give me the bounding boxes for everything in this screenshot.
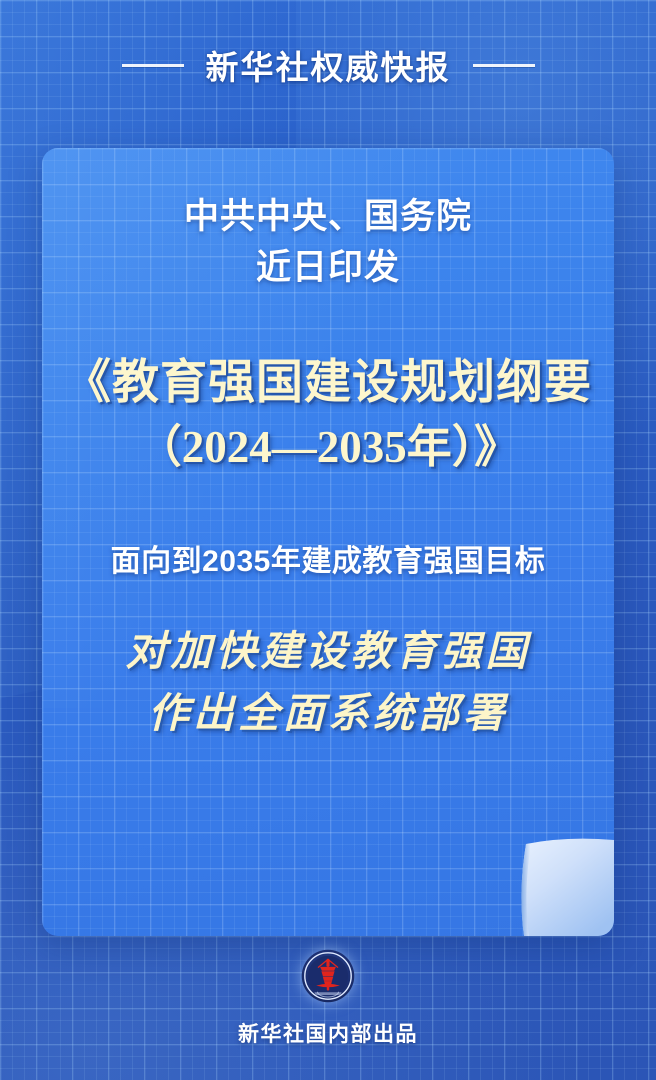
poster-footer: 新华社国内部出品: [0, 948, 656, 1048]
goal-statement-line: 面向到2035年建成教育强国目标: [111, 536, 546, 580]
header-title: 新华社权威快报: [206, 41, 451, 89]
poster-root: 新华社权威快报 中共中央、国务院 近日印发 《教育强国建设规划纲要 （2024—…: [0, 0, 656, 1080]
document-title-block: 《教育强国建设规划纲要 （2024—2035年）》: [64, 350, 592, 481]
lead-line-1: 中共中央、国务院: [184, 192, 472, 243]
header-rule-right-icon: [473, 64, 535, 67]
document-title-line-1: 《教育强国建设规划纲要: [64, 350, 592, 417]
poster-header: 新华社权威快报: [0, 0, 656, 130]
lead-line-2: 近日印发: [256, 243, 400, 294]
card-body: 中共中央、国务院 近日印发 《教育强国建设规划纲要 （2024—2035年）》 …: [42, 148, 614, 936]
header-rule-left-icon: [122, 64, 184, 67]
footer-attribution-text: 新华社国内部出品: [238, 1018, 418, 1048]
calligraphy-block: 对加快建设教育强国 作出全面系统部署: [126, 620, 531, 745]
calligraphy-line-2: 作出全面系统部署: [126, 682, 531, 744]
content-card: 中共中央、国务院 近日印发 《教育强国建设规划纲要 （2024—2035年）》 …: [42, 148, 614, 936]
calligraphy-line-1: 对加快建设教育强国: [126, 620, 531, 682]
xinhua-agency-logo-icon: [300, 948, 356, 1004]
document-title-line-2: （2024—2035年）》: [64, 416, 592, 480]
